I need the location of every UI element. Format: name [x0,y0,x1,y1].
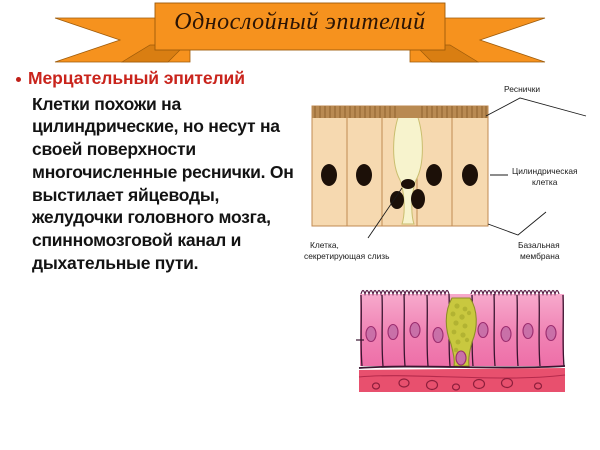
histology-illustration [352,278,572,400]
connective-tissue-band [359,368,565,392]
schematic-diagram: Реснички Цилиндрическая клетка Клетка, с… [296,72,596,262]
body-paragraph: Клетки похожи на цилиндрические, но несу… [12,93,298,275]
label-mucus-cell-line1: Клетка, [310,240,339,250]
title-banner: Однослойный эпителий [0,0,600,68]
slide-root: Однослойный эпителий Мерцательный эпител… [0,0,600,450]
label-mucus-cell-line2: секретирующая слизь [304,251,390,261]
label-columnar-cell-line2: клетка [532,177,558,187]
bullet-heading-row: Мерцательный эпителий [12,68,298,89]
label-columnar-cell-line1: Цилиндрическая [512,166,578,176]
label-cilia: Реснички [504,84,540,94]
banner-center-plate [155,3,445,50]
cilia-band [312,104,488,118]
label-basal-membrane-line1: Базальная [518,240,560,250]
banner-ribbon-shape [0,0,600,68]
bullet-dot-icon [16,77,21,82]
section-heading: Мерцательный эпителий [28,68,245,89]
label-basal-membrane-line2: мембрана [520,251,560,261]
basal-membrane-line [359,366,565,368]
text-column: Мерцательный эпителий Клетки похожи на ц… [12,68,298,275]
